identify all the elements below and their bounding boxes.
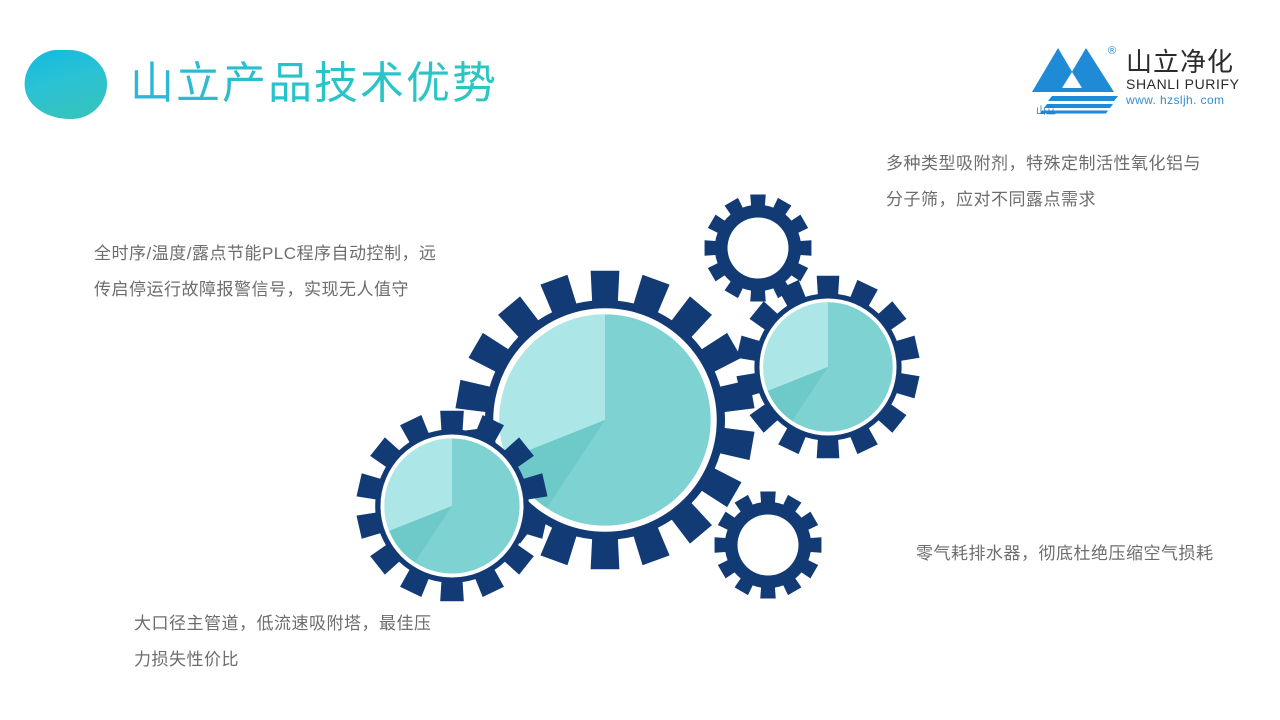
gear-right-small	[736, 276, 919, 459]
logo-wordmark: 山立净化 SHANLI PURIFY www. hzsljh. com	[1126, 48, 1266, 108]
callout-zero-air-loss-drain: 零气耗排水器，彻底杜绝压缩空气损耗	[916, 536, 1228, 572]
logo-company-cn: 山立净化	[1126, 48, 1266, 76]
logo-badge-label: 山立	[1036, 107, 1056, 117]
callout-plc-control: 全时序/温度/露点节能PLC程序自动控制，远传启停运行故障报警信号，实现无人值守	[94, 236, 446, 308]
gear-bottom-hollow	[715, 492, 822, 599]
callout-large-diameter-pipe: 大口径主管道，低流速吸附塔，最佳压力损失性价比	[134, 606, 434, 678]
gear-left-small	[356, 411, 547, 602]
slide-canvas: 山立产品技术优势 ® 山立 山立净化 SHANLI PURIFY www. hz…	[0, 0, 1280, 720]
company-logo: ® 山立 山立净化 SHANLI PURIFY www. hzsljh. com	[1030, 44, 1262, 118]
logo-company-en: SHANLI PURIFY	[1126, 76, 1266, 93]
logo-website: www. hzsljh. com	[1126, 93, 1266, 108]
callout-adsorbent-types: 多种类型吸附剂，特殊定制活性氧化铝与分子筛，应对不同露点需求	[886, 146, 1202, 218]
registered-trademark-symbol: ®	[1108, 46, 1116, 57]
page-title: 山立产品技术优势	[130, 56, 498, 112]
title-decoration-blob	[22, 48, 108, 120]
